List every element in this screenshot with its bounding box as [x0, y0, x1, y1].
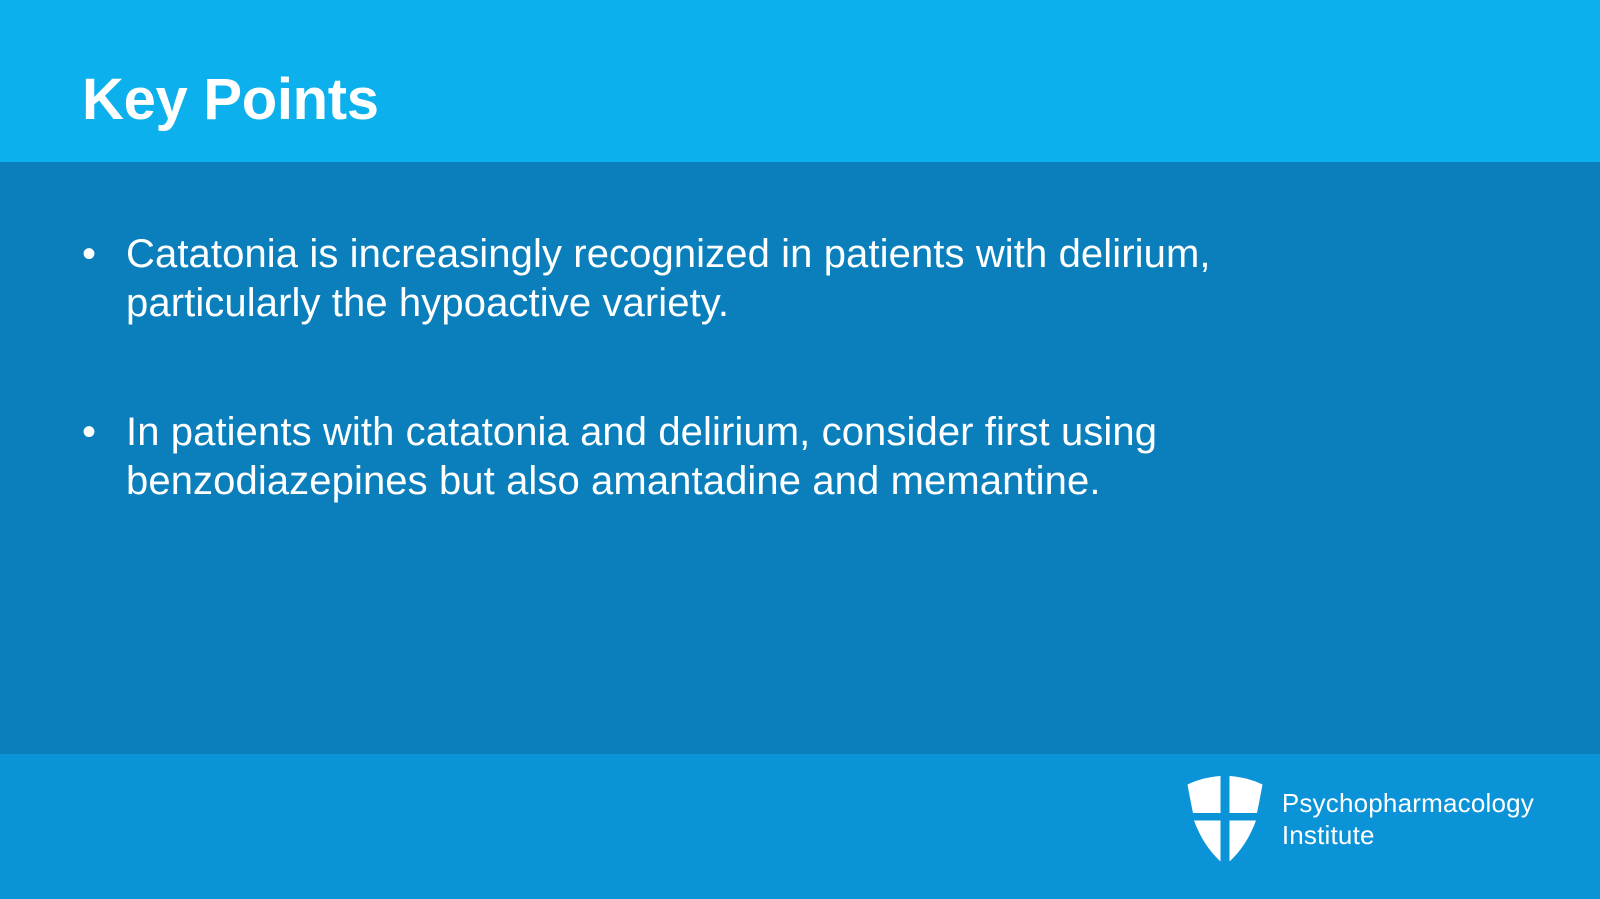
page-title: Key Points [82, 68, 379, 132]
header-band: Key Points [0, 0, 1600, 162]
brand-logo: Psychopharmacology Institute [1186, 775, 1534, 863]
bullet-point-icon: • [82, 230, 126, 279]
body-band: • Catatonia is increasingly recognized i… [0, 162, 1600, 754]
footer-band: Psychopharmacology Institute [0, 754, 1600, 899]
slide: Key Points • Catatonia is increasingly r… [0, 0, 1600, 899]
list-item: • Catatonia is increasingly recognized i… [82, 230, 1372, 328]
list-item-text: In patients with catatonia and delirium,… [126, 408, 1372, 506]
brand-name: Psychopharmacology Institute [1282, 787, 1534, 851]
brand-name-line1: Psychopharmacology [1282, 787, 1534, 819]
shield-cross-logo-icon [1186, 775, 1264, 863]
bullet-list: • Catatonia is increasingly recognized i… [82, 230, 1372, 506]
brand-name-line2: Institute [1282, 819, 1534, 851]
list-item: • In patients with catatonia and deliriu… [82, 408, 1372, 506]
list-item-text: Catatonia is increasingly recognized in … [126, 230, 1372, 328]
bullet-point-icon: • [82, 408, 126, 457]
